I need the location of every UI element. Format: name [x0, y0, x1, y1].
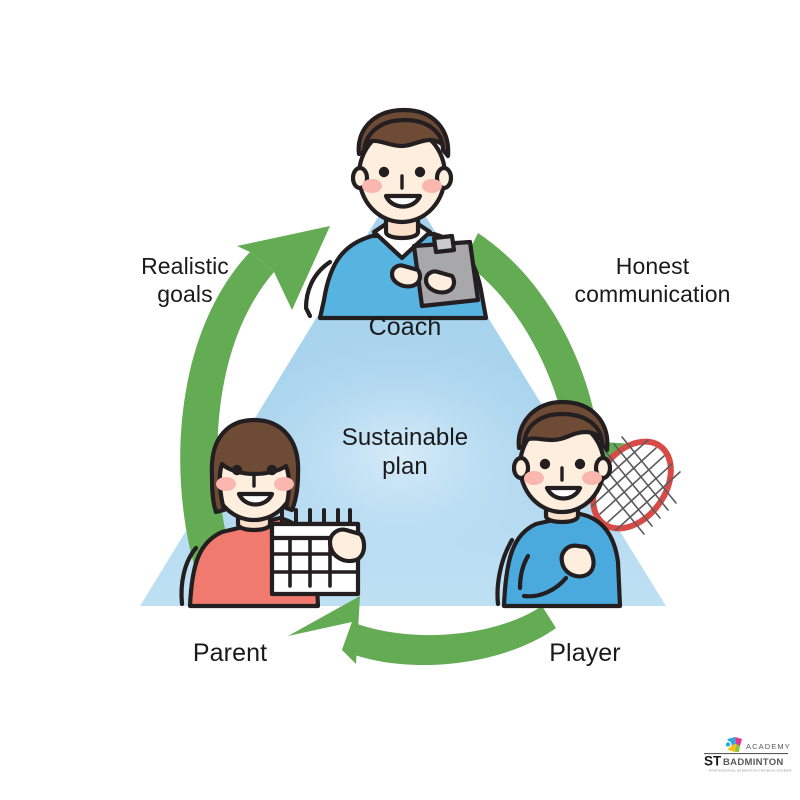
- st-academy-badminton-logo: ACADEMY ST BADMINTON PROFESSIONAL BADMIN…: [700, 736, 792, 774]
- flow-label-honest-communication: Honest communication: [540, 252, 765, 308]
- node-label-parent: Parent: [150, 638, 310, 669]
- diagram-canvas: Realistic goals Honest communication Coa…: [0, 0, 800, 800]
- node-label-player: Player: [505, 638, 665, 669]
- coach-figure-icon: [306, 110, 486, 318]
- center-label-sustainable-plan: Sustainable plan: [312, 423, 498, 482]
- logo-tagline-text: PROFESSIONAL BADMINTON TRAINING ACADEMY: [709, 769, 792, 773]
- flow-label-realistic-goals: Realistic goals: [90, 252, 280, 308]
- logo-badminton-text: BADMINTON: [723, 757, 784, 768]
- logo-shuttle-mark: [725, 737, 743, 752]
- logo-academy-text: ACADEMY: [746, 742, 791, 751]
- diagram-illustration: [0, 0, 800, 800]
- node-label-coach: Coach: [320, 312, 490, 343]
- logo-st-text: ST: [704, 754, 722, 769]
